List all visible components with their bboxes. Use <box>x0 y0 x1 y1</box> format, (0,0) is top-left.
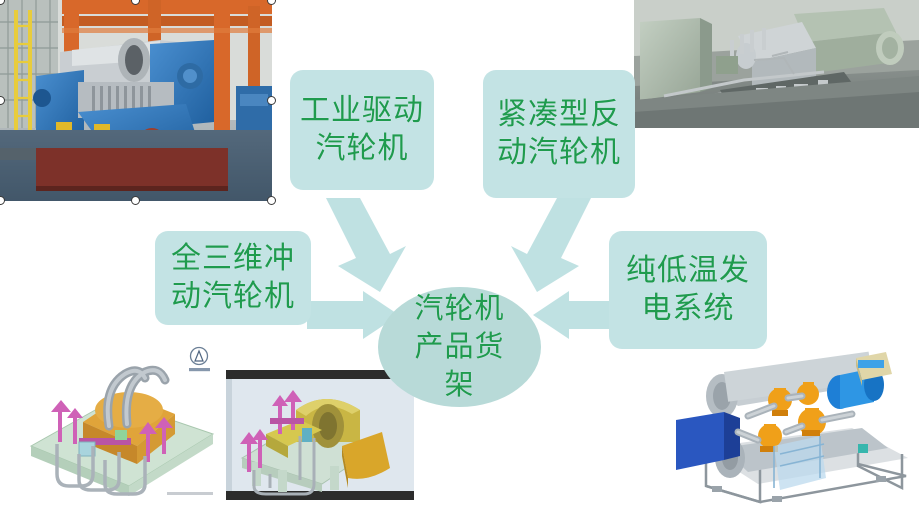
render-low-temp-unit-cad[interactable] <box>662 336 919 506</box>
selection-handle[interactable] <box>0 196 5 205</box>
node-label: 全三维冲 动汽轮机 <box>171 240 295 317</box>
render-turbine-casing-cad[interactable] <box>226 370 414 500</box>
arrow-from-industrial-drive <box>320 196 412 294</box>
selection-handle[interactable] <box>131 196 140 205</box>
node-compact-reaction-turbine[interactable]: 紧凑型反 动汽轮机 <box>483 70 635 198</box>
center-hub[interactable]: 汽轮机 产品货 架 <box>378 287 541 407</box>
selection-handle[interactable] <box>267 0 276 5</box>
render-impulse-turbine-cad[interactable] <box>17 338 229 506</box>
center-hub-label: 汽轮机 产品货 架 <box>414 290 504 403</box>
arrow-from-compact-reaction <box>505 196 597 294</box>
node-pure-low-temp-power-system[interactable]: 纯低温发 电系统 <box>609 231 767 349</box>
selection-handle[interactable] <box>267 96 276 105</box>
render-turbine-plant-3d[interactable] <box>634 0 919 128</box>
selection-handle[interactable] <box>267 196 276 205</box>
node-label: 工业驱动 汽轮机 <box>300 92 424 169</box>
slide-canvas: 汽轮机 产品货 架 工业驱动 汽轮机 紧凑型反 动汽轮机 全三维冲 动汽轮机 纯… <box>0 0 919 506</box>
photo-blue-turbine-workshop[interactable] <box>0 0 272 201</box>
node-label: 纯低温发 电系统 <box>626 252 750 329</box>
node-industrial-drive-turbine[interactable]: 工业驱动 汽轮机 <box>290 70 434 190</box>
node-label: 紧凑型反 动汽轮机 <box>497 96 621 173</box>
node-full-3d-impulse-turbine[interactable]: 全三维冲 动汽轮机 <box>155 231 311 325</box>
